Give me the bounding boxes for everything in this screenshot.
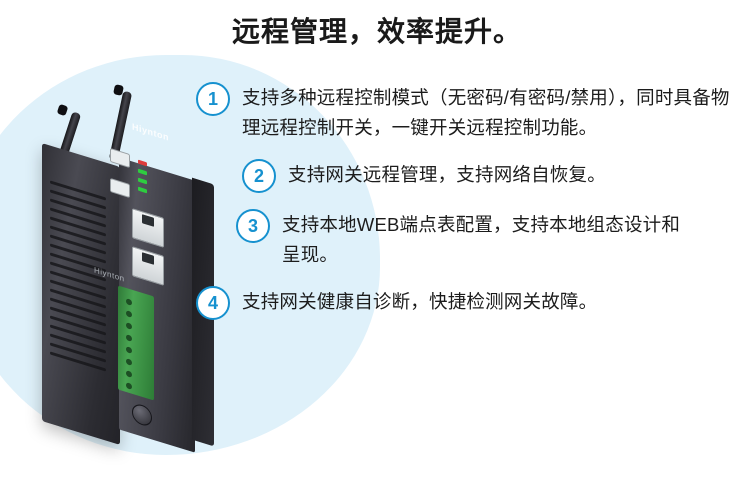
antenna-left-tip-icon [57,104,69,116]
page-root: 远程管理，效率提升。 Hiynton Hiynton [0,0,754,479]
feature-number-1: 1 [196,82,230,116]
device-brand-label: Hiynton [132,121,169,142]
feature-text-2: 支持网关远程管理，支持网络自恢复。 [288,159,606,190]
feature-item-2: 2 支持网关远程管理，支持网络自恢复。 [242,159,741,193]
feature-number-2: 2 [242,159,276,193]
feature-number-4: 4 [196,286,230,320]
feature-item-3: 3 支持本地WEB端点表配置，支持本地组态设计和呈现。 [236,209,741,270]
feature-number-3: 3 [236,209,270,243]
feature-list: 1 支持多种远程控制模式（无密码/有密码/禁用），同时具备物理远程控制开关，一键… [196,82,741,336]
feature-item-1: 1 支持多种远程控制模式（无密码/有密码/禁用），同时具备物理远程控制开关，一键… [196,82,741,143]
terminal-block [118,285,154,400]
page-title: 远程管理，效率提升。 [0,10,754,50]
feature-text-4: 支持网关健康自诊断，快捷检测网关故障。 [242,286,597,317]
feature-text-1: 支持多种远程控制模式（无密码/有密码/禁用），同时具备物理远程控制开关，一键开关… [242,82,741,143]
device-left-panel [42,143,120,445]
feature-text-3: 支持本地WEB端点表配置，支持本地组态设计和呈现。 [282,209,682,270]
feature-item-4: 4 支持网关健康自诊断，快捷检测网关故障。 [196,286,741,320]
